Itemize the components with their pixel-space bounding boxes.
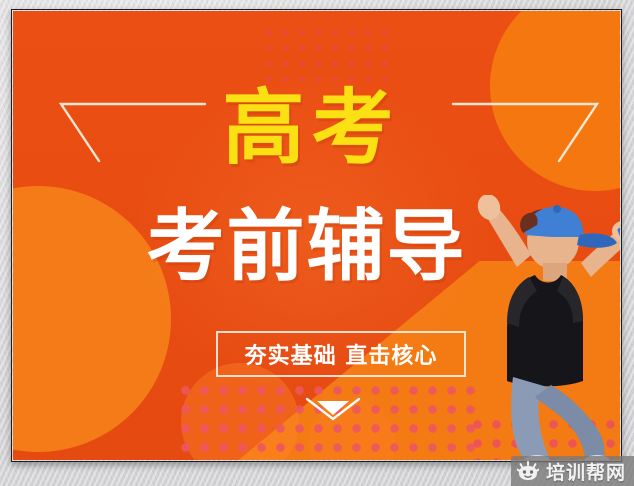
screenshot-canvas: 高考 考前辅导 夯实基础 直击核心 bbox=[0, 0, 634, 486]
down-chevron-arrow-icon bbox=[305, 397, 361, 421]
watermark-text: 培训帮网 bbox=[546, 458, 626, 485]
page-title: 高考 bbox=[13, 88, 620, 170]
jumping-student-illustration bbox=[469, 195, 620, 460]
watermark: 培训帮网 bbox=[511, 456, 634, 486]
sun-face-logo-icon bbox=[517, 461, 539, 481]
student-cap-brim bbox=[577, 233, 617, 247]
tagline-text: 夯实基础 直击核心 bbox=[245, 338, 438, 370]
student-cap-button bbox=[553, 205, 561, 213]
poster-frame-border: 高考 考前辅导 夯实基础 直击核心 bbox=[11, 9, 622, 462]
tagline-box: 夯实基础 直击核心 bbox=[216, 331, 466, 377]
poster-artwork: 高考 考前辅导 夯实基础 直击核心 bbox=[13, 11, 620, 460]
